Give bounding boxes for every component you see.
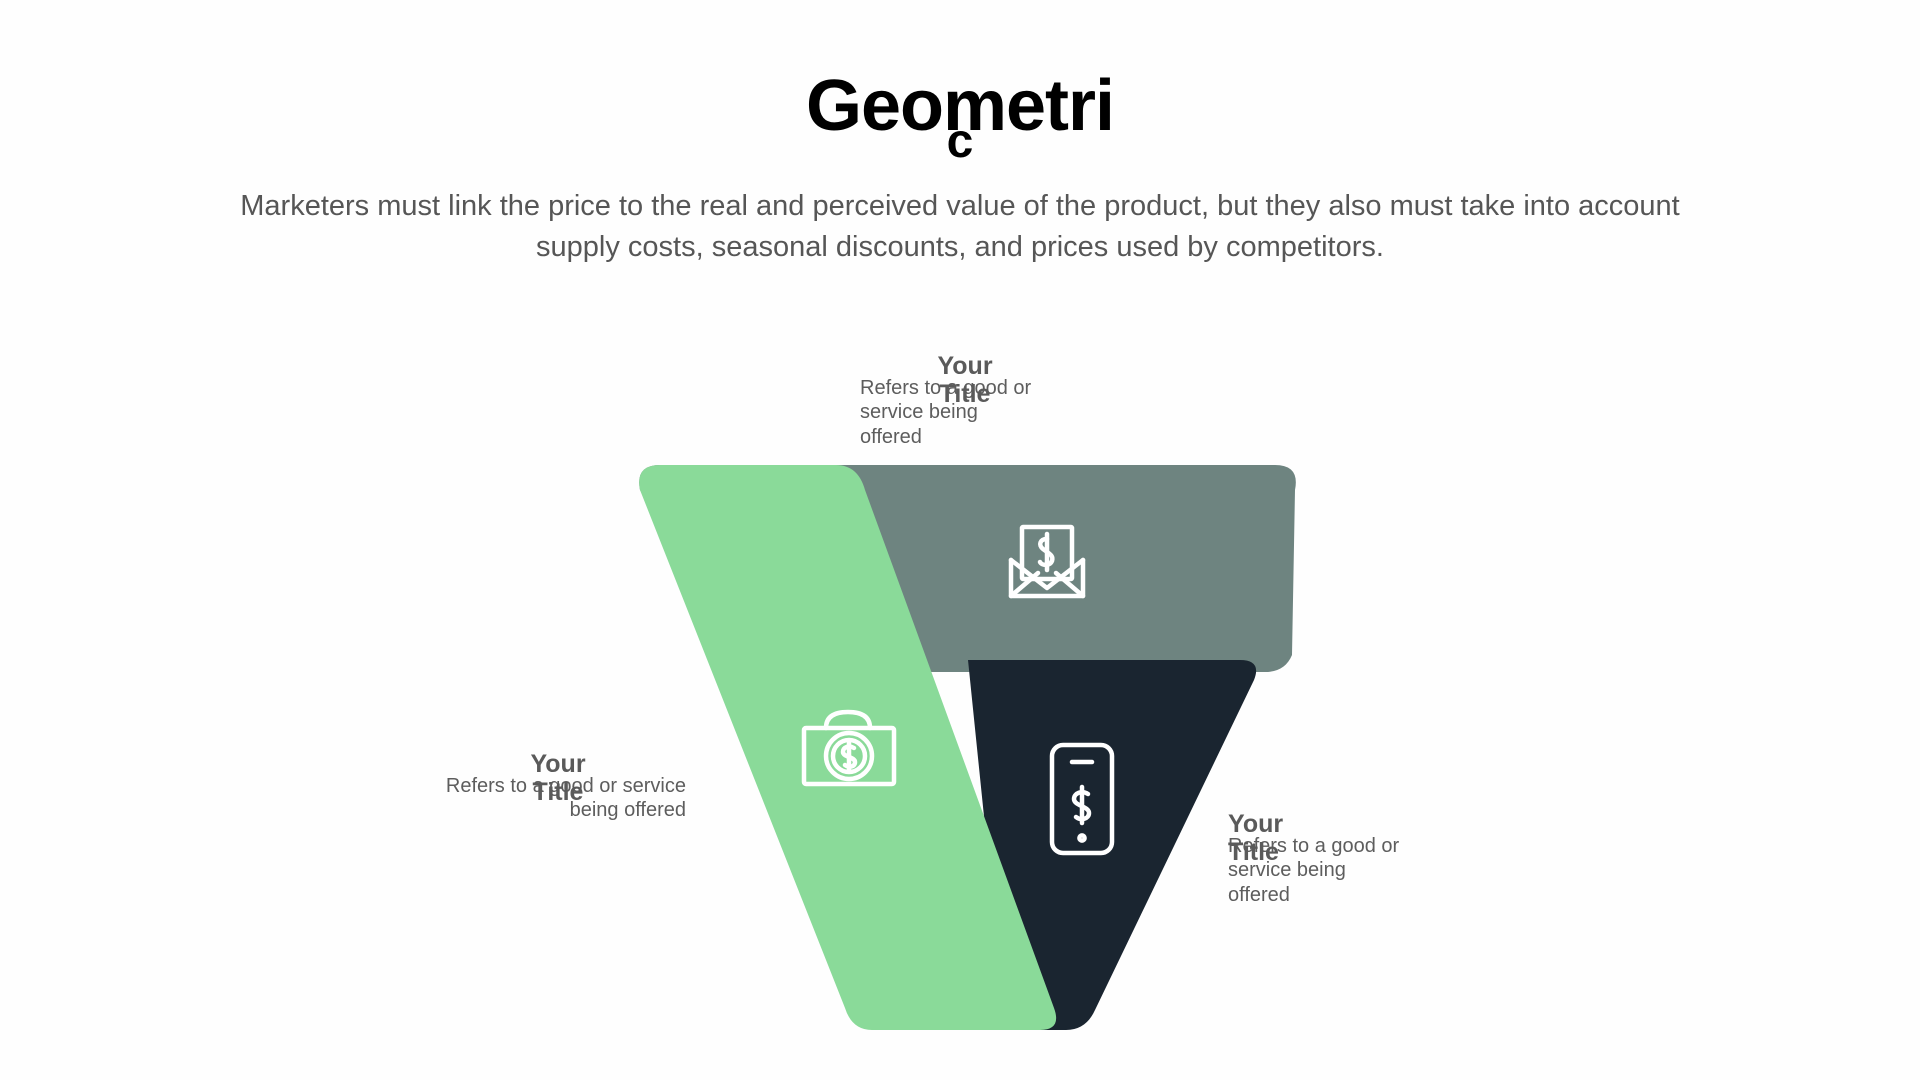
callout-left[interactable]: Your Title Refers to a good or service b… [430, 750, 686, 823]
callout-left-title: Your Title [430, 750, 686, 806]
callout-top[interactable]: Your Title Refers to a good or service b… [860, 352, 1070, 449]
envelope-dollar-icon [1011, 527, 1083, 596]
callout-top-title: Your Title [860, 352, 1070, 408]
callout-right-title: Your Title [1228, 810, 1438, 866]
slide-canvas: Geometri c Marketers must link the price… [0, 0, 1920, 1080]
callout-right[interactable]: Your Title Refers to a good or service b… [1228, 810, 1438, 907]
funnel-diagram [0, 0, 1920, 1080]
